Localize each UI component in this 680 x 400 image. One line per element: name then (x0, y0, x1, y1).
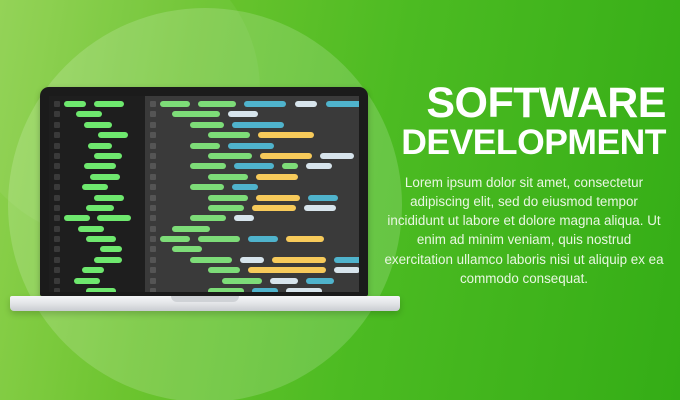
code-line (49, 236, 145, 246)
code-token (82, 184, 108, 190)
code-token (272, 257, 326, 263)
code-token (208, 132, 250, 138)
code-token (98, 132, 128, 138)
code-line (49, 153, 145, 163)
code-token (252, 288, 278, 292)
code-token (306, 278, 334, 284)
line-number-marker (54, 122, 60, 128)
code-line (145, 163, 359, 173)
code-line (49, 278, 145, 288)
line-number-marker (54, 236, 60, 242)
code-line (145, 226, 359, 236)
code-indent (64, 267, 82, 273)
code-token (326, 101, 359, 107)
code-token (256, 174, 298, 180)
code-token (228, 111, 258, 117)
code-token (334, 267, 359, 273)
code-token (94, 257, 122, 263)
code-line (145, 215, 359, 225)
code-indent (64, 163, 84, 169)
code-indent (160, 226, 172, 232)
code-token (232, 184, 258, 190)
code-token (82, 267, 104, 273)
code-token (256, 195, 300, 201)
code-indent (160, 122, 190, 128)
line-number-marker (54, 174, 60, 180)
line-number-marker (54, 246, 60, 252)
code-indent (160, 257, 190, 263)
code-token (260, 153, 312, 159)
code-token (160, 236, 190, 242)
code-indent (64, 236, 86, 242)
code-token (208, 267, 240, 273)
line-number-marker (150, 236, 156, 242)
line-number-marker (150, 143, 156, 149)
code-indent (160, 163, 190, 169)
line-number-marker (54, 163, 60, 169)
code-indent (160, 143, 190, 149)
code-token (306, 163, 332, 169)
code-token (64, 101, 86, 107)
code-token (286, 236, 324, 242)
line-number-marker (54, 226, 60, 232)
code-indent (160, 195, 208, 201)
code-line (145, 132, 359, 142)
code-line (49, 111, 145, 121)
code-indent (64, 195, 94, 201)
laptop-illustration (0, 0, 420, 330)
code-token (295, 101, 317, 107)
code-token (190, 215, 226, 221)
code-line (145, 143, 359, 153)
line-number-marker (150, 122, 156, 128)
code-token (90, 174, 120, 180)
code-token (248, 236, 278, 242)
code-token (172, 111, 220, 117)
code-line (49, 267, 145, 277)
code-token (94, 195, 124, 201)
code-token (270, 278, 298, 284)
code-indent (160, 132, 208, 138)
line-number-marker (150, 205, 156, 211)
code-token (198, 236, 240, 242)
code-indent (64, 226, 78, 232)
code-token (84, 122, 112, 128)
line-number-marker (150, 267, 156, 273)
code-token (76, 111, 102, 117)
code-indent (160, 215, 190, 221)
code-token (232, 122, 284, 128)
code-indent (64, 132, 98, 138)
code-indent (160, 288, 208, 292)
code-token (86, 288, 116, 292)
line-number-marker (54, 215, 60, 221)
line-number-marker (54, 184, 60, 190)
code-pane-right (145, 96, 359, 292)
code-token (94, 153, 122, 159)
code-line (145, 236, 359, 246)
code-line (145, 246, 359, 256)
code-indent (64, 122, 84, 128)
line-number-marker (150, 174, 156, 180)
code-indent (64, 174, 90, 180)
line-number-marker (54, 153, 60, 159)
code-line (49, 184, 145, 194)
code-pane-left (49, 96, 145, 292)
code-line (49, 122, 145, 132)
code-token (208, 288, 244, 292)
code-line (145, 195, 359, 205)
code-indent (160, 278, 222, 284)
text-block: SOFTWARE DEVELOPMENT Lorem ipsum dolor s… (382, 82, 666, 288)
code-indent (64, 184, 82, 190)
code-token (240, 257, 264, 263)
code-indent (64, 143, 88, 149)
code-token (308, 195, 338, 201)
code-token (172, 246, 202, 252)
code-token (86, 236, 116, 242)
code-token (208, 195, 248, 201)
trackpad-notch (171, 296, 239, 302)
line-number-marker (150, 246, 156, 252)
line-number-marker (54, 143, 60, 149)
code-token (208, 205, 244, 211)
code-line (49, 246, 145, 256)
code-line (145, 174, 359, 184)
code-token (94, 101, 124, 107)
code-line (145, 267, 359, 277)
code-token (64, 215, 90, 221)
code-line (49, 101, 145, 111)
code-line (49, 215, 145, 225)
code-token (160, 101, 190, 107)
code-line (145, 257, 359, 267)
code-line (49, 174, 145, 184)
code-line (145, 101, 359, 111)
code-token (100, 246, 122, 252)
code-token (248, 267, 326, 273)
code-token (208, 174, 248, 180)
code-line (145, 278, 359, 288)
code-token (97, 215, 131, 221)
code-indent (64, 257, 94, 263)
line-number-marker (150, 111, 156, 117)
line-number-marker (150, 184, 156, 190)
title-line-1: SOFTWARE (382, 82, 666, 124)
code-indent (160, 111, 172, 117)
code-token (86, 205, 114, 211)
code-indent (64, 153, 94, 159)
code-token (304, 205, 336, 211)
code-line (145, 111, 359, 121)
code-token (190, 163, 226, 169)
code-line (145, 153, 359, 163)
line-number-marker (150, 153, 156, 159)
code-token (258, 132, 314, 138)
code-token (198, 101, 236, 107)
line-number-marker (150, 215, 156, 221)
code-indent (64, 278, 74, 284)
code-line (49, 163, 145, 173)
code-token (234, 163, 274, 169)
code-line (49, 257, 145, 267)
code-line (49, 132, 145, 142)
line-number-marker (54, 195, 60, 201)
code-indent (64, 205, 86, 211)
code-line (145, 184, 359, 194)
line-number-marker (54, 132, 60, 138)
page-title: SOFTWARE DEVELOPMENT (382, 82, 666, 160)
code-line (49, 143, 145, 153)
line-number-marker (54, 257, 60, 263)
line-number-marker (54, 205, 60, 211)
code-indent (160, 246, 172, 252)
line-number-marker (54, 267, 60, 273)
code-token (88, 143, 112, 149)
code-line (49, 226, 145, 236)
code-token (190, 143, 220, 149)
code-token (282, 163, 298, 169)
code-indent (160, 184, 190, 190)
code-token (78, 226, 104, 232)
code-indent (64, 246, 100, 252)
laptop-screen-bezel (40, 87, 368, 296)
code-token (172, 226, 210, 232)
title-line-2: DEVELOPMENT (382, 125, 666, 160)
code-indent (160, 205, 208, 211)
line-number-marker (150, 195, 156, 201)
line-number-marker (150, 278, 156, 284)
line-number-marker (150, 101, 156, 107)
code-token (74, 278, 100, 284)
line-number-marker (150, 132, 156, 138)
code-token (190, 184, 224, 190)
code-indent (64, 111, 76, 117)
code-line (49, 205, 145, 215)
code-token (208, 153, 252, 159)
line-number-marker (54, 111, 60, 117)
code-line (49, 195, 145, 205)
code-line (49, 288, 145, 292)
code-token (234, 215, 254, 221)
line-number-marker (150, 163, 156, 169)
code-token (244, 101, 286, 107)
code-token (84, 163, 116, 169)
code-token (252, 205, 296, 211)
code-token (190, 257, 232, 263)
code-token (286, 288, 322, 292)
code-token (190, 122, 224, 128)
code-token (222, 278, 262, 284)
code-indent (64, 288, 86, 292)
line-number-marker (150, 288, 156, 292)
code-line (145, 205, 359, 215)
code-editor-screen (49, 96, 359, 292)
body-paragraph: Lorem ipsum dolor sit amet, consectetur … (382, 173, 666, 288)
code-token (228, 143, 274, 149)
code-line (145, 288, 359, 292)
code-indent (160, 174, 208, 180)
poster-canvas: SOFTWARE DEVELOPMENT Lorem ipsum dolor s… (0, 0, 680, 400)
line-number-marker (54, 101, 60, 107)
laptop-base (10, 296, 400, 311)
code-indent (160, 153, 208, 159)
line-number-marker (54, 288, 60, 292)
code-indent (160, 267, 208, 273)
line-number-marker (54, 278, 60, 284)
code-token (334, 257, 359, 263)
line-number-marker (150, 257, 156, 263)
line-number-marker (150, 226, 156, 232)
code-line (145, 122, 359, 132)
code-token (320, 153, 354, 159)
